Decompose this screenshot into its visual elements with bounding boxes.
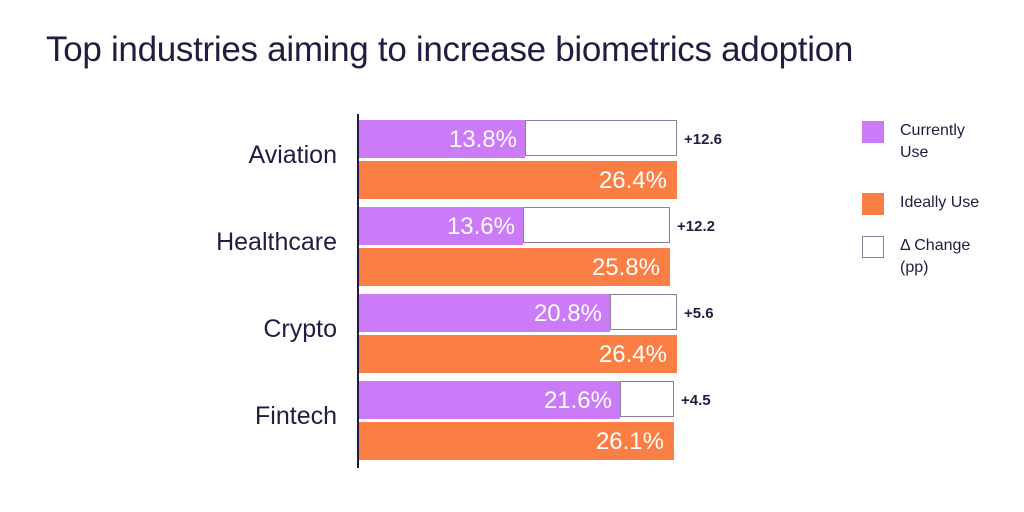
category-label: Crypto [263,311,337,347]
bar-value-ideally-use: 25.8% [552,248,660,286]
category-label: Healthcare [216,224,337,260]
delta-change-label: +12.2 [677,207,715,245]
legend-item-delta-change[interactable]: Δ Change (pp) [862,235,970,279]
bar-value-currently-use: 13.6% [417,207,515,245]
legend-swatch-currently-use-icon [862,121,884,143]
legend-label-ideally-use: Ideally Use [900,192,979,214]
legend-item-currently-use[interactable]: Currently Use [862,120,965,164]
bar-value-currently-use: 20.8% [504,294,602,332]
delta-change-box[interactable] [620,381,674,417]
category-label: Fintech [255,398,337,434]
bar-group: Fintech 21.6% +4.5 26.1% [0,376,1024,456]
legend-swatch-ideally-use-icon [862,193,884,215]
delta-change-label: +12.6 [684,120,722,158]
bar-value-currently-use: 21.6% [514,381,612,419]
bar-value-ideally-use: 26.1% [556,422,664,460]
delta-change-label: +4.5 [681,381,711,419]
legend-label-delta-change: Δ Change (pp) [900,235,970,279]
delta-change-box[interactable] [525,120,677,156]
category-label: Aviation [249,137,338,173]
bar-value-currently-use: 13.8% [419,120,517,158]
bar-value-ideally-use: 26.4% [559,161,667,199]
delta-change-label: +5.6 [684,294,714,332]
legend-swatch-delta-change-icon [862,236,884,258]
delta-change-box[interactable] [523,207,670,243]
legend-item-ideally-use[interactable]: Ideally Use [862,192,979,215]
legend-label-currently-use: Currently Use [900,120,965,164]
bar-value-ideally-use: 26.4% [559,335,667,373]
delta-change-box[interactable] [610,294,677,330]
bar-group: Crypto 20.8% +5.6 26.4% [0,289,1024,369]
chart-container: Top industries aiming to increase biomet… [0,0,1024,512]
